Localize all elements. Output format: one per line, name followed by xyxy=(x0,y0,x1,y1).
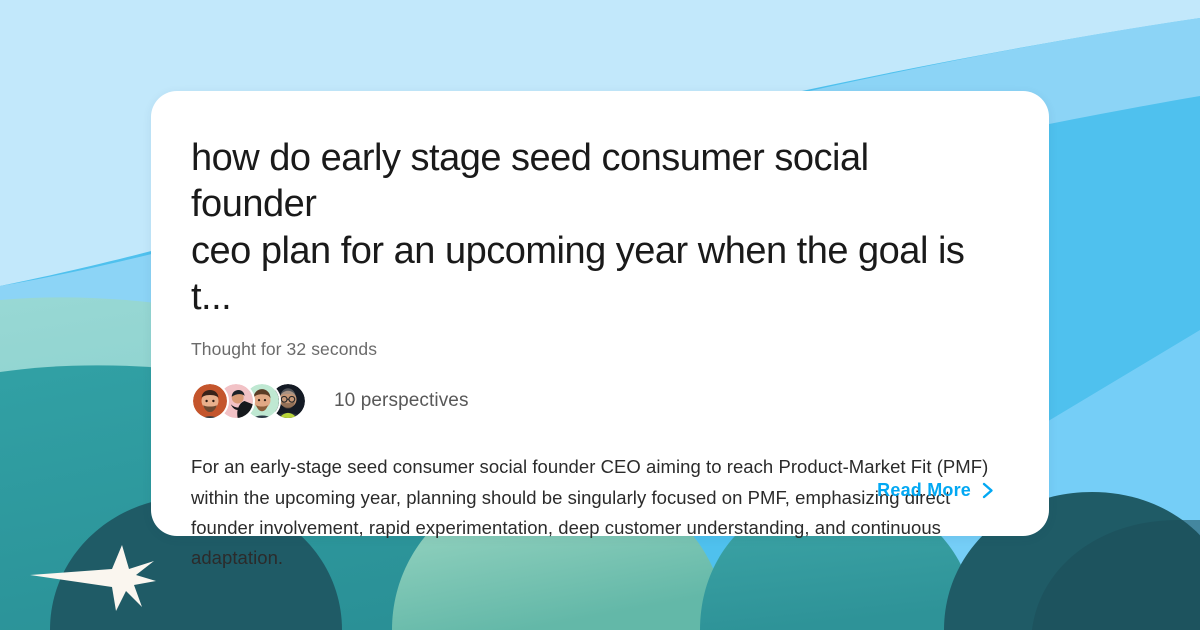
avatar-stack[interactable] xyxy=(191,380,307,422)
thought-status: Thought for 32 seconds xyxy=(191,339,995,360)
page-title: how do early stage seed consumer social … xyxy=(191,135,995,320)
read-more-label: Read More xyxy=(877,480,971,501)
answer-summary-text: For an early-stage seed consumer social … xyxy=(191,452,995,573)
card-inner: how do early stage seed consumer social … xyxy=(191,135,995,536)
read-more-button[interactable]: Read More xyxy=(877,480,995,501)
chevron-right-icon xyxy=(982,482,995,499)
poster-canvas: how do early stage seed consumer social … xyxy=(0,0,1200,630)
perspectives-count-label: 10 perspectives xyxy=(334,390,469,412)
answer-card[interactable]: how do early stage seed consumer social … xyxy=(151,91,1049,536)
perspectives-row[interactable]: 10 perspectives xyxy=(191,380,995,422)
